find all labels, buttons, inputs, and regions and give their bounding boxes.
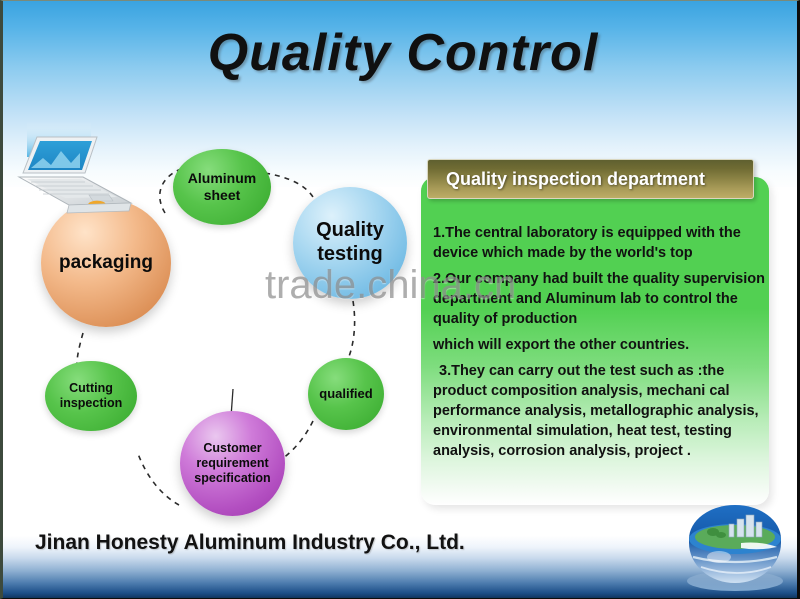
arc-aluminum-to-qualitytesting (265, 173, 313, 197)
panel-item-3: which will export the other countries. (433, 335, 765, 355)
panel-item-4: 3.They can carry out the test such as :t… (433, 361, 765, 461)
cycle-node-quality-testing[interactable]: Quality testing (293, 187, 407, 299)
cycle-node-label: Customer requirement specification (180, 441, 285, 485)
arc-qualitytesting-to-qualified (347, 301, 355, 361)
cycle-node-label: Cutting inspection (45, 381, 137, 411)
panel-item-1: 1.The central laboratory is equipped wit… (433, 223, 765, 263)
arc-packaging-to-cutting (77, 333, 83, 363)
globe-icon (679, 499, 791, 594)
panel-body: 1.The central laboratory is equipped wit… (433, 223, 765, 467)
cycle-node-label: Quality testing (293, 219, 407, 266)
arc-customer-to-cutting (137, 451, 179, 505)
cycle-node-label: packaging (55, 252, 157, 274)
cycle-node-label: qualified (315, 386, 376, 401)
process-cycle-diagram: Aluminum sheet packaging Quality testing… (13, 121, 423, 521)
cycle-node-aluminum-sheet[interactable]: Aluminum sheet (173, 149, 271, 225)
panel-header-label: Quality inspection department (428, 169, 705, 190)
cycle-node-qualified[interactable]: qualified (308, 358, 384, 430)
panel-header: Quality inspection department (427, 159, 754, 199)
cycle-node-customer-requirement[interactable]: Customer requirement specification (180, 411, 285, 516)
company-name: Jinan Honesty Aluminum Industry Co., Ltd… (35, 531, 465, 555)
cycle-node-cutting-inspection[interactable]: Cutting inspection (45, 361, 137, 431)
laptop-icon (13, 121, 145, 229)
cycle-node-label: Aluminum sheet (173, 170, 271, 203)
panel-item-2: 2.Our company had built the quality supe… (433, 269, 765, 329)
slide-canvas: Quality Control Aluminum sheet packaging… (0, 0, 800, 599)
page-title: Quality Control (3, 23, 800, 83)
